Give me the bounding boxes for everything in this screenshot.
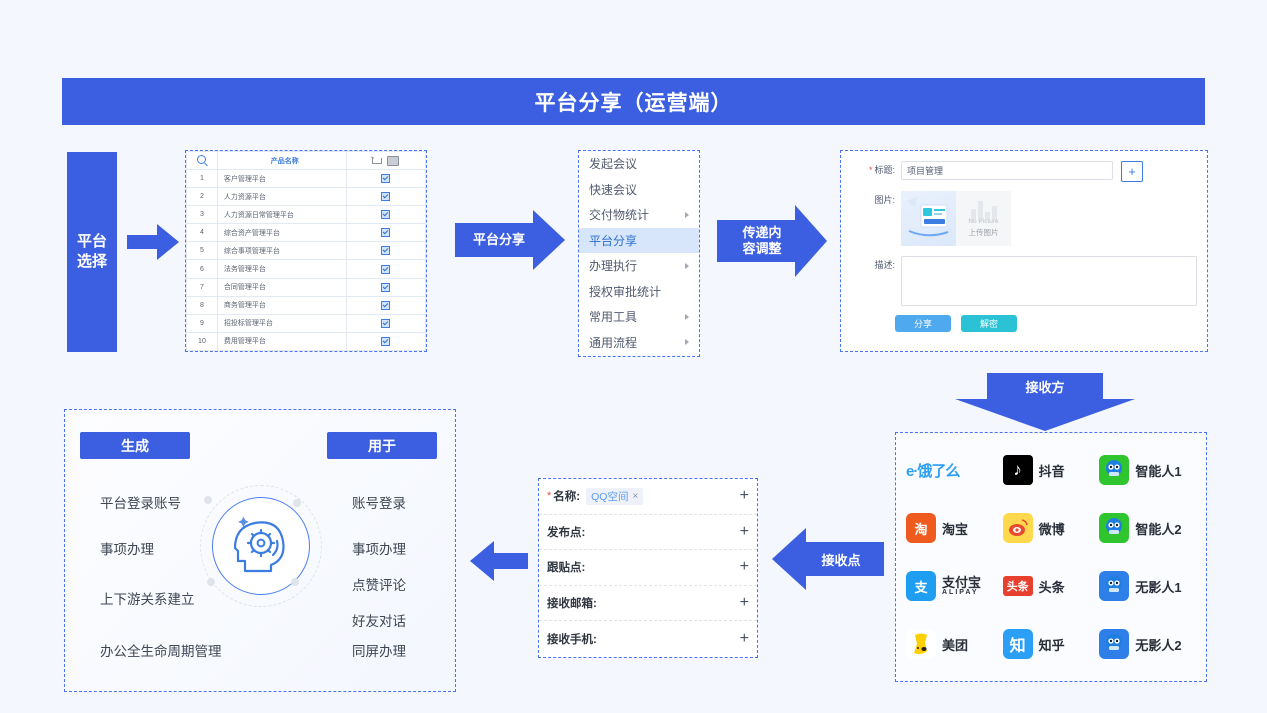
menu-panel: 发起会议快速会议交付物统计平台分享办理执行授权审批统计常用工具通用流程 [578, 150, 700, 357]
checkbox-checked-icon[interactable] [381, 301, 390, 310]
orbit-dot [291, 578, 299, 586]
form-row-desc: 描述: [841, 256, 1207, 306]
checkbox-checked-icon[interactable] [381, 283, 390, 292]
receiver-name: 支付宝ALIPAY [942, 576, 981, 596]
checkbox-checked-icon[interactable] [381, 192, 390, 201]
table-row[interactable]: 2人力资源平台 [187, 188, 426, 206]
orbit-dot [207, 578, 215, 586]
menu-item-label: 通用流程 [589, 334, 637, 351]
row-product-name: 法务管理平台 [217, 260, 346, 278]
add-button[interactable]: + [740, 630, 749, 648]
form-row-actions: 分享 解密 [841, 315, 1207, 332]
row-index: 3 [187, 206, 218, 224]
row-checkbox-cell[interactable] [346, 314, 425, 332]
product-table: 产品名称 1客户管理平台2人力资源平台3人力资源日常管理平台4综合资产管理平台5… [186, 151, 426, 351]
result-left-header: 生成 [80, 432, 190, 459]
checkbox-checked-icon[interactable] [381, 228, 390, 237]
row-product-name: 客户管理平台 [217, 170, 346, 188]
eleme-icon: e·饿了么 [906, 460, 959, 481]
arrow-receive-point-label: 接收点 [802, 550, 880, 569]
table-row[interactable]: 4综合资产管理平台 [187, 224, 426, 242]
receiver-item-2[interactable]: 智能人1 [1099, 441, 1196, 499]
table-header-row: 产品名称 [187, 152, 426, 170]
table-row[interactable]: 7合同管理平台 [187, 278, 426, 296]
image-preview-thumbnail[interactable] [901, 191, 956, 246]
platform-select-bar: 平台选择 [67, 152, 117, 352]
required-mark: * [547, 490, 551, 502]
close-icon[interactable]: × [632, 491, 638, 502]
menu-item-label: 快速会议 [589, 181, 637, 198]
taobao-icon: 淘 [906, 513, 936, 543]
menu-item-5[interactable]: 授权审批统计 [579, 279, 699, 305]
receiver-name: 智能人1 [1135, 461, 1181, 480]
ai-brain-gear-icon [233, 515, 289, 577]
illustration-icon [901, 191, 956, 246]
receiver-name: 淘宝 [942, 519, 968, 538]
receive-point-label: 名称: [553, 488, 580, 504]
arrow-content-adjust-label: 传递内容调整 [742, 225, 781, 258]
table-row[interactable]: 8商务管理平台 [187, 296, 426, 314]
title-field-label: *标题: [851, 161, 901, 179]
menu-item-6[interactable]: 常用工具 [579, 304, 699, 330]
row-checkbox-cell[interactable] [346, 260, 425, 278]
row-product-name: 合同管理平台 [217, 278, 346, 296]
table-row[interactable]: 3人力资源日常管理平台 [187, 206, 426, 224]
row-checkbox-cell[interactable] [346, 278, 425, 296]
robot-green-icon [1099, 455, 1129, 485]
receiver-item-3[interactable]: 淘淘宝 [906, 499, 1003, 557]
table-row[interactable]: 1客户管理平台 [187, 170, 426, 188]
receive-point-label: 接收邮箱: [547, 595, 597, 611]
receiver-name: 微博 [1039, 519, 1065, 538]
robot-blue-icon [1099, 571, 1129, 601]
menu-item-3[interactable]: 平台分享 [579, 228, 699, 254]
generate-item-1: 事项办理 [100, 538, 154, 558]
menu-item-1[interactable]: 快速会议 [579, 177, 699, 203]
checkbox-checked-icon[interactable] [381, 319, 390, 328]
row-index: 7 [187, 278, 218, 296]
product-table-panel: 产品名称 1客户管理平台2人力资源平台3人力资源日常管理平台4综合资产管理平台5… [185, 150, 427, 352]
douyin-icon: ♪ [1003, 455, 1033, 485]
row-index: 1 [187, 170, 218, 188]
cart-icon [372, 157, 381, 165]
usage-item-2: 点赞评论 [352, 574, 406, 594]
image-upload-placeholder[interactable]: No Picture 上传图片 [956, 191, 1011, 246]
row-product-name: 综合资产管理平台 [217, 224, 346, 242]
chevron-right-icon [685, 212, 689, 218]
checkbox-checked-icon[interactable] [381, 337, 390, 346]
form-row-image: 图片: No Picture 上传图片 [841, 191, 1207, 246]
menu-item-0[interactable]: 发起会议 [579, 151, 699, 177]
toutiao-icon: 头条 [1003, 576, 1033, 596]
generate-item-3: 办公全生命周期管理 [100, 640, 222, 660]
receiver-name: 美团 [942, 635, 968, 654]
generate-item-0: 平台登录账号 [100, 492, 181, 512]
menu-item-4[interactable]: 办理执行 [579, 253, 699, 279]
row-checkbox-cell[interactable] [346, 242, 425, 260]
receive-point-row-2[interactable]: 跟贴点:+ [539, 550, 757, 586]
arrow-right-icon [127, 222, 179, 262]
arrow-receive-point: 接收点 [772, 528, 884, 590]
row-product-name: 人力资源日常管理平台 [217, 206, 346, 224]
chevron-right-icon [685, 339, 689, 345]
receiver-item-0[interactable]: e·饿了么 [906, 441, 1003, 499]
receive-point-row-3[interactable]: 接收邮箱:+ [539, 586, 757, 622]
monitor-icon [387, 156, 399, 166]
usage-item-3: 好友对话 [352, 610, 406, 630]
table-row[interactable]: 9招投标管理平台 [187, 314, 426, 332]
arrow-platform-share: 平台分享 [455, 210, 565, 270]
checkbox-checked-icon[interactable] [381, 210, 390, 219]
zhihu-icon: 知 [1003, 629, 1033, 659]
receive-point-list: *名称:QQ空间×+发布点:+跟贴点:+接收邮箱:+接收手机:+ [539, 479, 757, 657]
title-input[interactable]: 项目管理 [901, 161, 1113, 180]
row-index: 2 [187, 188, 218, 206]
meituan-icon [906, 629, 936, 659]
row-index: 9 [187, 314, 218, 332]
arrow-content-adjust: 传递内容调整 [717, 205, 827, 277]
row-index: 8 [187, 296, 218, 314]
arrow-receiver-label: 接收方 [955, 377, 1135, 396]
page-title: 平台分享（运营端） [535, 87, 733, 117]
menu-item-label: 办理执行 [589, 257, 637, 274]
orbit-dot [293, 499, 301, 507]
receive-point-label: 跟贴点: [547, 559, 585, 575]
chevron-right-icon [685, 314, 689, 320]
receiver-item-11[interactable]: 无影人2 [1099, 615, 1196, 673]
menu-item-label: 授权审批统计 [589, 283, 661, 300]
product-table-head: 产品名称 [187, 152, 426, 170]
checkbox-checked-icon[interactable] [381, 265, 390, 274]
menu-list: 发起会议快速会议交付物统计平台分享办理执行授权审批统计常用工具通用流程 [579, 151, 699, 355]
add-button[interactable]: + [740, 523, 749, 541]
row-product-name: 费用管理平台 [217, 332, 346, 350]
receive-point-row-4[interactable]: 接收手机:+ [539, 621, 757, 657]
row-checkbox-cell[interactable] [346, 332, 425, 350]
row-checkbox-cell[interactable] [346, 170, 425, 188]
menu-item-label: 常用工具 [589, 308, 637, 325]
receive-point-row-1[interactable]: 发布点:+ [539, 515, 757, 551]
usage-item-0: 账号登录 [352, 492, 406, 512]
receiver-item-10[interactable]: 知知乎 [1003, 615, 1100, 673]
alipay-icon: 支 [906, 571, 936, 601]
row-index: 4 [187, 224, 218, 242]
upload-image-text: 上传图片 [969, 227, 999, 238]
arrow-to-table [127, 222, 179, 262]
receiver-item-1[interactable]: ♪抖音 [1003, 441, 1100, 499]
receiver-item-6[interactable]: 支支付宝ALIPAY [906, 557, 1003, 615]
weibo-icon [1003, 513, 1033, 543]
result-panel: 生成 用于 平台登录账号事项办理上下游关系建立办公全生命周期管理 账号登录事项办… [64, 409, 456, 692]
share-form-panel: *标题: 项目管理 + 图片: [840, 150, 1208, 352]
column-icons [346, 152, 425, 170]
row-index: 5 [187, 242, 218, 260]
page-title-bar: 平台分享（运营端） [62, 78, 1205, 125]
generate-item-2: 上下游关系建立 [100, 588, 195, 608]
menu-item-2[interactable]: 交付物统计 [579, 202, 699, 228]
menu-item-label: 发起会议 [589, 155, 637, 172]
receiver-item-5[interactable]: 智能人2 [1099, 499, 1196, 557]
row-checkbox-cell[interactable] [346, 188, 425, 206]
add-title-button[interactable]: + [1121, 161, 1143, 182]
receiver-platform-panel: e·饿了么♪抖音智能人1淘淘宝微博智能人2支支付宝ALIPAY头条头条无影人1美… [895, 432, 1207, 682]
description-textarea[interactable] [901, 256, 1197, 306]
menu-item-7[interactable]: 通用流程 [579, 330, 699, 356]
receive-point-label: 发布点: [547, 524, 585, 540]
receiver-name: 智能人2 [1135, 519, 1181, 538]
row-checkbox-cell[interactable] [346, 206, 425, 224]
search-header-cell[interactable] [187, 152, 218, 170]
receive-point-panel: *名称:QQ空间×+发布点:+跟贴点:+接收邮箱:+接收手机:+ [538, 478, 758, 658]
form-row-title: *标题: 项目管理 + [841, 161, 1207, 182]
receiver-item-7[interactable]: 头条头条 [1003, 557, 1100, 615]
receiver-name: 无影人1 [1135, 577, 1181, 596]
row-product-name: 人力资源平台 [217, 188, 346, 206]
arrow-platform-share-label: 平台分享 [473, 232, 525, 248]
row-checkbox-cell[interactable] [346, 296, 425, 314]
row-product-name: 综合事项管理平台 [217, 242, 346, 260]
checkbox-checked-icon[interactable] [381, 174, 390, 183]
desc-field-label: 描述: [851, 256, 901, 274]
checkbox-checked-icon[interactable] [381, 246, 390, 255]
table-row[interactable]: 5综合事项管理平台 [187, 242, 426, 260]
chevron-right-icon [685, 263, 689, 269]
arrow-receiver: 接收方 [955, 373, 1135, 431]
share-button[interactable]: 分享 [895, 315, 951, 332]
receiver-item-4[interactable]: 微博 [1003, 499, 1100, 557]
orbit-dot [204, 496, 212, 504]
receive-point-row-0[interactable]: *名称:QQ空间×+ [539, 479, 757, 515]
decrypt-button[interactable]: 解密 [961, 315, 1017, 332]
row-index: 6 [187, 260, 218, 278]
diagram-canvas: 平台分享（运营端） 平台选择 产品名称 [0, 0, 1267, 713]
product-table-body: 1客户管理平台2人力资源平台3人力资源日常管理平台4综合资产管理平台5综合事项管… [187, 170, 426, 351]
menu-item-label: 交付物统计 [589, 206, 649, 223]
robot-green-icon [1099, 513, 1129, 543]
row-checkbox-cell[interactable] [346, 224, 425, 242]
usage-item-1: 事项办理 [352, 538, 406, 558]
receive-point-label: 接收手机: [547, 631, 597, 647]
table-row[interactable]: 6法务管理平台 [187, 260, 426, 278]
result-right-header: 用于 [327, 432, 437, 459]
receiver-name: 头条 [1039, 577, 1065, 596]
receiver-grid: e·饿了么♪抖音智能人1淘淘宝微博智能人2支支付宝ALIPAY头条头条无影人1美… [896, 433, 1206, 681]
receiver-name: 无影人2 [1135, 635, 1181, 654]
arrow-left-icon [470, 540, 528, 582]
search-icon[interactable] [197, 155, 206, 164]
menu-item-label: 平台分享 [589, 232, 637, 249]
receiver-item-9[interactable]: 美团 [906, 615, 1003, 673]
add-button[interactable]: + [740, 594, 749, 612]
robot-blue-icon [1099, 629, 1129, 659]
table-row[interactable]: 10费用管理平台 [187, 332, 426, 350]
receiver-name: 知乎 [1039, 635, 1065, 654]
row-product-name: 商务管理平台 [217, 296, 346, 314]
receiver-name: 抖音 [1039, 461, 1065, 480]
arrow-to-result [470, 540, 528, 582]
receiver-item-8[interactable]: 无影人1 [1099, 557, 1196, 615]
platform-select-label: 平台选择 [77, 232, 107, 273]
mountain-icon [971, 201, 997, 221]
image-field-label: 图片: [851, 191, 901, 209]
column-product-name: 产品名称 [217, 152, 346, 170]
usage-item-4: 同屏办理 [352, 640, 406, 660]
add-button[interactable]: + [740, 558, 749, 576]
add-button[interactable]: + [740, 487, 749, 505]
value-tag[interactable]: QQ空间× [586, 488, 643, 505]
row-index: 10 [187, 332, 218, 350]
row-product-name: 招投标管理平台 [217, 314, 346, 332]
